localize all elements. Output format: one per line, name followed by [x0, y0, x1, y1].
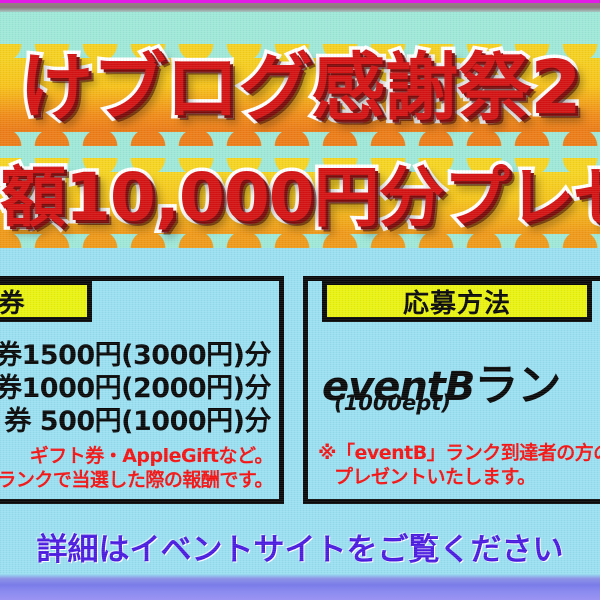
prize-panel: 券 券1500円(3000円)分 券1000円(2000円)分 券 500円(1…: [0, 276, 284, 504]
prize-list-item: 券1000円(2000円)分: [0, 372, 279, 405]
prize-note-line-1: ギフト券・AppleGiftなど。: [0, 444, 273, 468]
application-note-line-1: ※「eventB」ランク到達者の方の中か: [318, 441, 600, 465]
application-panel-header-label: 応募方法: [403, 283, 511, 320]
top-edge-magenta-line: [0, 0, 600, 3]
prize-panel-header: 券: [0, 280, 92, 322]
bottom-edge-band: [0, 574, 600, 600]
prize-note-line-2: ランクで当選した際の報酬です。: [0, 468, 273, 492]
application-panel: 応募方法 eventBラン (1000ept) ※「eventB」ランク到達者の…: [303, 276, 600, 504]
application-panel-notes: ※「eventB」ランク到達者の方の中か プレゼントいたします。: [318, 441, 600, 489]
poster-title-line-1: けブログ感謝祭2: [0, 46, 600, 130]
poster-title-line-2: 額10,000円分プレゼント: [0, 160, 600, 236]
prize-list: 券1500円(3000円)分 券1000円(2000円)分 券 500円(100…: [0, 339, 279, 438]
promo-poster: けブログ感謝祭2 額10,000円分プレゼント 券 券1500円(3000円)分…: [0, 0, 600, 600]
prize-panel-header-label: 券: [0, 283, 26, 320]
prize-list-item: 券1500円(3000円)分: [0, 339, 279, 372]
event-site-cta[interactable]: 詳細はイベントサイトをご覧ください: [0, 524, 600, 569]
application-panel-header: 応募方法: [322, 280, 592, 322]
application-note-line-2: プレゼントいたします。: [318, 465, 600, 489]
rank-suffix-label: ラン: [474, 360, 560, 411]
rank-points-label: (1000ept): [334, 391, 451, 415]
prize-list-item: 券 500円(1000円)分: [0, 405, 279, 438]
prize-panel-notes: ギフト券・AppleGiftなど。 ランクで当選した際の報酬です。: [0, 444, 279, 492]
top-edge-band: [0, 2, 600, 12]
